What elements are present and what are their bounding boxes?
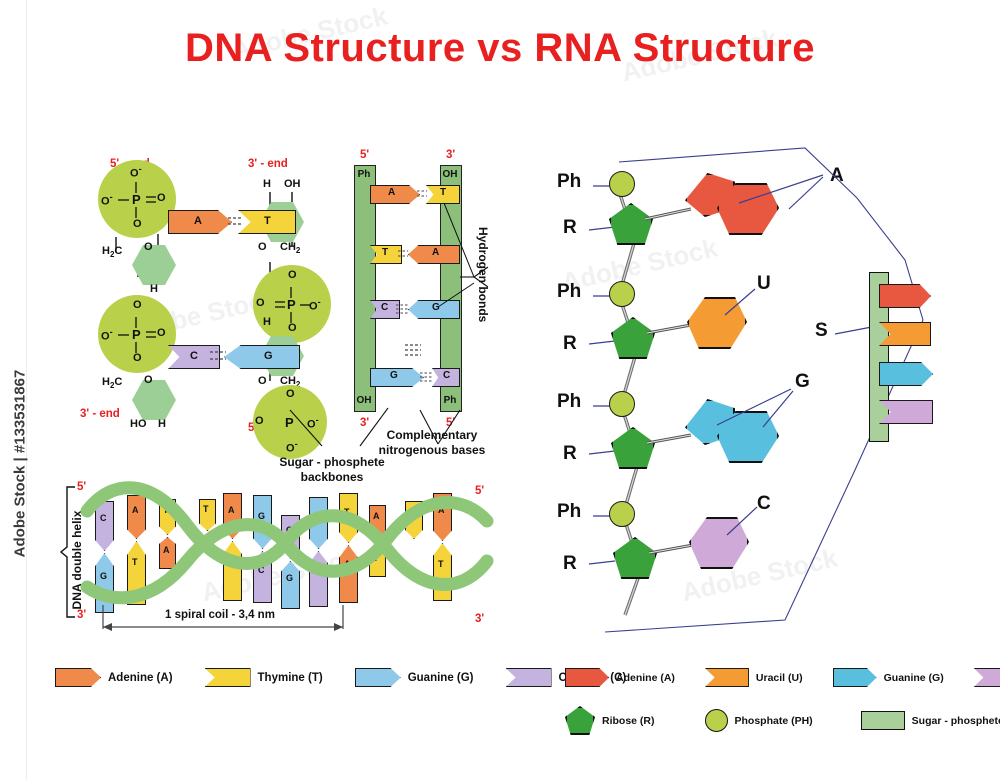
rung-1-left-label: A (388, 187, 395, 198)
helix-pair-12-bottom (433, 543, 452, 601)
rna-ph-label-3: Ph (557, 391, 581, 413)
ladder-cap-top-left: Ph (354, 169, 374, 180)
legend-swatch-ribose (565, 706, 595, 735)
helix-pair-9-bottom-label: A (344, 559, 351, 569)
rung-2-hbonds (398, 249, 410, 259)
helix-pair-6-top-label: G (258, 511, 265, 521)
rna-ph-label-1: Ph (557, 171, 581, 193)
dna-legend: Adenine (A) Thymine (T) Guanine (G) Cyto… (55, 668, 644, 687)
dna-double-helix: DNA double helix 5' 3' 5' 3' C G A T (55, 475, 510, 645)
helix-pair-8-bottom-label: C (314, 565, 321, 575)
legend-swatch-phosphate (705, 709, 728, 732)
rna-glyco-bond-1 (645, 207, 695, 227)
rung-2-left-label: T (382, 247, 388, 258)
legend-label-guanine-rna: Guanine (G) (884, 672, 944, 684)
helix-pair-9-top-label: T (344, 507, 350, 517)
helix-prime-top-left: 5' (77, 481, 86, 493)
helix-pair-1-top-label: C (100, 513, 107, 523)
helix-pair-4-top-label: T (203, 504, 209, 514)
rna-s-arrow-guanine (879, 362, 933, 386)
rna-glyco-bond-2 (647, 323, 695, 339)
rna-s-callout: S (815, 270, 945, 450)
page-title: DNA Structure vs RNA Structure (0, 26, 1000, 71)
legend-swatch-cytosine-rna (974, 668, 1000, 687)
base-guanine (224, 345, 300, 369)
helix-pair-9-top (339, 493, 358, 543)
legend-swatch-uracil-rna (705, 668, 749, 687)
helix-pair-2-top (127, 495, 146, 539)
rung-3-left-label: C (381, 302, 388, 313)
base-adenine-label: A (194, 215, 202, 227)
helix-pair-2-bottom (127, 541, 146, 605)
helix-pair-6-bottom (253, 551, 272, 603)
rung-4-left-label: G (390, 370, 398, 381)
helix-pair-11-top (405, 501, 423, 539)
rna-s-arrow-adenine (879, 284, 931, 308)
rna-phosphate-2 (609, 281, 635, 307)
phosphate-1-bonds (98, 160, 178, 240)
hbond-dashes-cg (210, 350, 228, 363)
sugar-2-h: H (158, 418, 166, 430)
complementary-bases-callout: Complementary nitrogenous bases (372, 428, 492, 458)
rna-r-label-3: R (563, 443, 577, 465)
rna-r-leader-3 (589, 449, 617, 459)
helix-pair-2-top-label: A (132, 505, 139, 515)
ladder-prime-top-left: 5' (360, 149, 369, 161)
rna-phosphate-1 (609, 171, 635, 197)
watermark-label: Adobe Stock | #133531867 (12, 304, 29, 624)
legend-swatch-guanine-rna (833, 668, 877, 687)
sugar-3-ch2: CH2 (280, 241, 300, 255)
legend-swatch-adenine-rna (565, 668, 609, 687)
sugar-1-h: H (150, 283, 158, 295)
rna-ph-label-4: Ph (557, 501, 581, 523)
dna-nucleotide-chain: 5' - end 3' - end 3' - end 5' - end (80, 140, 370, 440)
helix-pair-8-top-label: G (314, 511, 321, 521)
helix-pair-9-bottom (339, 545, 358, 603)
helix-pair-7-bottom-label: G (286, 573, 293, 583)
rna-base-label-a: A (830, 165, 844, 187)
helix-prime-bottom-left: 3' (77, 609, 86, 621)
helix-pair-1-bottom-label: G (100, 571, 107, 581)
legend-label-guanine-dna: Guanine (G) (408, 672, 474, 684)
helix-scale-label: 1 spiral coil - 3,4 nm (165, 609, 275, 621)
sugar-1-o: O (144, 241, 153, 253)
legend-swatch-cytosine-dna (506, 668, 552, 687)
rna-ph-label-2: Ph (557, 281, 581, 303)
chain-base-pair-at: A T (168, 210, 328, 232)
phosphate-4-o-top: O (286, 388, 295, 400)
rna-r-leader-4 (589, 559, 617, 569)
rna-phosphate-3 (609, 391, 635, 417)
legend-swatch-thymine-dna (205, 668, 251, 687)
legend-item-backbones: Sugar - phosphete backbones (S) (861, 711, 1000, 730)
rna-base-a-leaders (727, 167, 837, 227)
legend-label-adenine-rna: Adenine (A) (616, 672, 675, 684)
helix-pair-10-bottom-label: T (373, 553, 379, 563)
legend-item-adenine-dna: Adenine (A) (55, 668, 173, 687)
legend-item-thymine-dna: Thymine (T) (205, 668, 323, 687)
helix-pair-2-bottom-label: T (132, 557, 138, 567)
legend-item-uracil-rna: Uracil (U) (705, 668, 803, 687)
helix-pair-8-top (309, 497, 328, 549)
helix-pair-3-bottom-label: A (163, 545, 170, 555)
rna-base-label-u: U (757, 273, 771, 295)
legend-label-thymine-dna: Thymine (T) (258, 672, 323, 684)
helix-pair-8-bottom (309, 551, 328, 607)
legend-item-ribose: Ribose (R) (565, 706, 655, 735)
phosphate-4-o-bottom: O- (286, 439, 298, 455)
sugar-1-h2c: H2C (102, 245, 122, 259)
legend-label-adenine-dna: Adenine (A) (108, 672, 173, 684)
helix-pair-7-bottom (281, 561, 300, 609)
legend-item-cytosine-rna: Cytosine (C) (974, 668, 1000, 687)
sugar-4-h: H (263, 316, 271, 328)
helix-pair-5-bottom (223, 541, 242, 601)
sugar-2-h2c: H2C (102, 376, 122, 390)
helix-pair-1-top (95, 501, 114, 551)
legend-swatch-guanine-dna (355, 668, 401, 687)
rna-base-label-g: G (795, 371, 810, 393)
helix-pair-11-top-label: T (409, 509, 415, 519)
helix-pair-12-top (433, 493, 452, 541)
phosphate-4-o-left: O (255, 415, 264, 427)
helix-pair-12-bottom-label: T (438, 559, 444, 569)
chain-base-pair-cg: C G (168, 345, 328, 367)
rna-glyco-bond-3 (647, 433, 695, 449)
sugar-2-o: O (144, 374, 153, 386)
legend-label-uracil-rna: Uracil (U) (756, 672, 803, 684)
rna-structure: Ph R A Ph R U Ph R (545, 145, 985, 645)
helix-pair-7-top-label: C (286, 525, 293, 535)
legend-item-guanine-dna: Guanine (G) (355, 668, 474, 687)
helix-axis-label: DNA double helix (70, 500, 84, 620)
rna-phosphate-4 (609, 501, 635, 527)
helix-pair-6-top (253, 495, 272, 549)
helix-pair-12-top-label: A (438, 505, 445, 515)
backbones-line1: Sugar - phosphete (272, 455, 392, 470)
helix-base-pairs: C G A T T A T (95, 491, 485, 619)
helix-pair-7-top (281, 515, 300, 559)
rna-glyco-bond-4 (649, 543, 697, 559)
rna-r-leader-2 (589, 339, 617, 349)
legend-item-adenine-rna: Adenine (A) (565, 668, 675, 687)
base-cytosine-label: C (190, 350, 198, 362)
rna-r-label-4: R (563, 553, 577, 575)
dna-ladder: 5' 3' 3' 5' Ph OH OH Ph A T T A C (350, 165, 500, 430)
helix-pair-5-top (223, 493, 242, 539)
phosphate-3-bonds (253, 265, 333, 345)
complementary-bases-line1: Complementary (372, 428, 492, 443)
base-guanine-label: G (264, 350, 273, 362)
base-thymine-label: T (264, 215, 271, 227)
legend-item-guanine-rna: Guanine (G) (833, 668, 944, 687)
legend-label-backbones: Sugar - phosphete backbones (S) (912, 715, 1000, 727)
phosphate-2-bonds (98, 295, 178, 375)
sugar-4-o: O (258, 375, 267, 387)
sugar-3-h: H (263, 178, 271, 190)
hydrogen-bonds-leaders (420, 195, 480, 375)
helix-pair-5-bottom-label: T (228, 557, 234, 567)
rna-legend-row-2: Ribose (R) Phosphate (PH) Sugar - phosph… (565, 706, 1000, 735)
ladder-prime-top-right: 3' (446, 149, 455, 161)
helix-pair-3-top-label: T (163, 505, 169, 515)
legend-swatch-backbones (861, 711, 905, 730)
diagram-canvas: Adobe Stock Adobe Stock Adobe Stock Adob… (0, 0, 1000, 780)
sugar-3-o: O (258, 241, 267, 253)
rna-base-label-c: C (757, 493, 771, 515)
rna-s-label: S (815, 320, 828, 342)
rung-3-hbonds (396, 303, 410, 315)
helix-pair-6-bottom-label: C (258, 565, 265, 575)
legend-item-phosphate: Phosphate (PH) (705, 709, 813, 732)
sugar-3-oh: OH (284, 178, 301, 190)
phosphate-4-p: P (285, 415, 294, 430)
rna-legend-row-1: Adenine (A) Uracil (U) Guanine (G) Cytos… (565, 668, 1000, 687)
helix-pair-10-top-label: A (373, 511, 380, 521)
legend-label-ribose: Ribose (R) (602, 715, 655, 727)
hbond-dashes-at (228, 216, 244, 227)
legend-label-phosphate: Phosphate (PH) (735, 715, 813, 727)
legend-swatch-adenine-dna (55, 668, 101, 687)
hydrogen-bonds-label: Hydrogen bonds (476, 227, 490, 243)
rna-r-label-1: R (563, 217, 577, 239)
ladder-cap-top-right: OH (440, 169, 460, 180)
sugar-2-ho: HO (130, 418, 147, 430)
helix-pair-5-top-label: A (228, 505, 235, 515)
rna-r-label-2: R (563, 333, 577, 355)
